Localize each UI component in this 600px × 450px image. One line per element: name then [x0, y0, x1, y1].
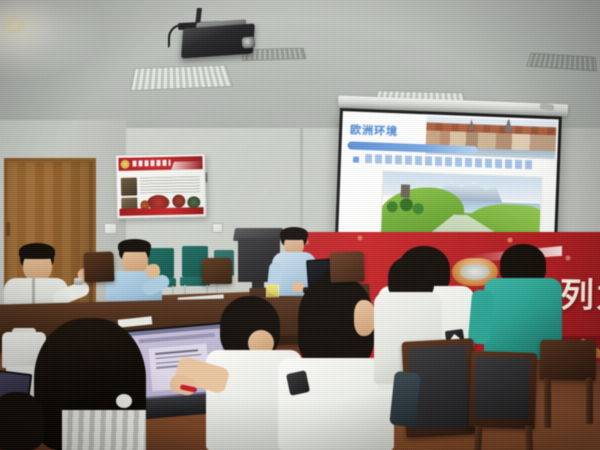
- photo-scene: 欧洲环境: [0, 0, 600, 450]
- logo-patch-icon: [286, 370, 310, 396]
- light-panel-left: [130, 65, 233, 91]
- presentation-slide: 欧洲环境: [338, 111, 559, 251]
- poster-ribbon: [171, 161, 204, 170]
- door-hinge: [6, 222, 10, 236]
- slide-title: 欧洲环境: [350, 121, 399, 139]
- poster-header-text: [132, 160, 170, 167]
- poster-photo-circle: [172, 194, 185, 207]
- poster-footer-band: [119, 207, 203, 216]
- hair-tie: [116, 394, 132, 408]
- banner-emblem-inner: [460, 264, 490, 280]
- power-outlet-plate[interactable]: [212, 223, 223, 233]
- light-switch-plate[interactable]: [104, 223, 117, 234]
- wristwatch: [74, 278, 83, 285]
- face: [354, 300, 376, 336]
- poster-photo: [121, 178, 137, 196]
- projector-lens-icon: [242, 37, 256, 49]
- slide-bullet-marker: [353, 157, 359, 163]
- ceiling-spotlight: [2, 18, 26, 34]
- banner-text: 列为: [560, 267, 600, 317]
- wall-poster: [115, 153, 206, 219]
- striped-top: [62, 410, 146, 450]
- poster-body-text: [140, 176, 200, 193]
